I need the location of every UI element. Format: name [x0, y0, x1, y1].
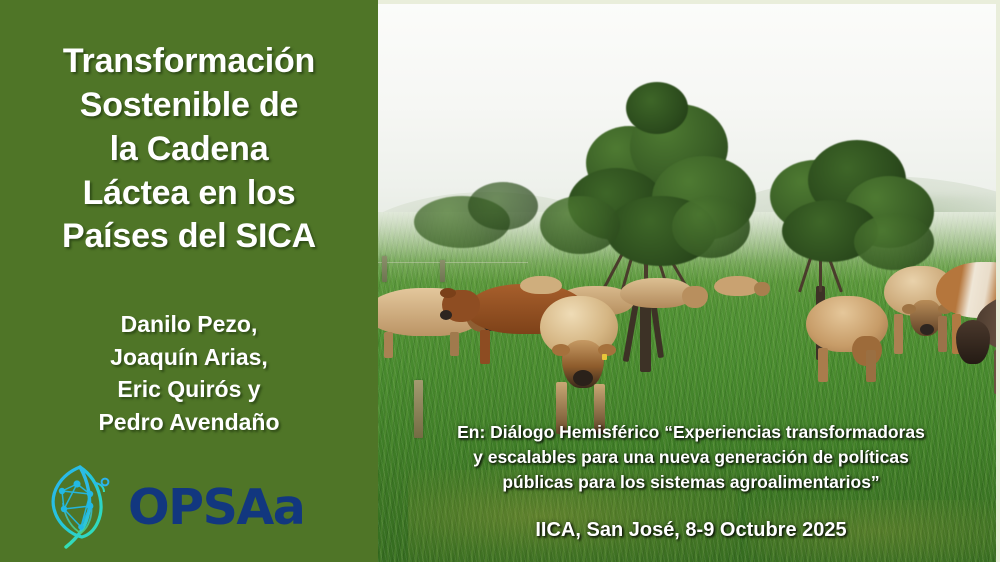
fence-wire [378, 262, 528, 263]
opsaa-wordmark: OPSAa [128, 483, 304, 532]
photo-top-border [378, 0, 1000, 4]
opsaa-leaf-network-icon [40, 461, 122, 549]
presentation-slide: Transformación Sostenible de la Cadena L… [0, 0, 1000, 562]
slide-title: Transformación Sostenible de la Cadena L… [0, 40, 378, 259]
fence-post [382, 256, 387, 282]
venue-date-line: IICA, San José, 8-9 Octubre 2025 [386, 518, 996, 542]
photo-right-border [996, 0, 1000, 562]
opsaa-logo: OPSAa [40, 460, 340, 550]
photo-caption: En: Diálogo Hemisférico “Experiencias tr… [386, 420, 996, 495]
author-list: Danilo Pezo, Joaquín Arias, Eric Quirós … [0, 308, 378, 439]
fence-post [440, 260, 445, 282]
left-foliage-2 [468, 182, 538, 230]
left-title-panel: Transformación Sostenible de la Cadena L… [0, 0, 378, 562]
